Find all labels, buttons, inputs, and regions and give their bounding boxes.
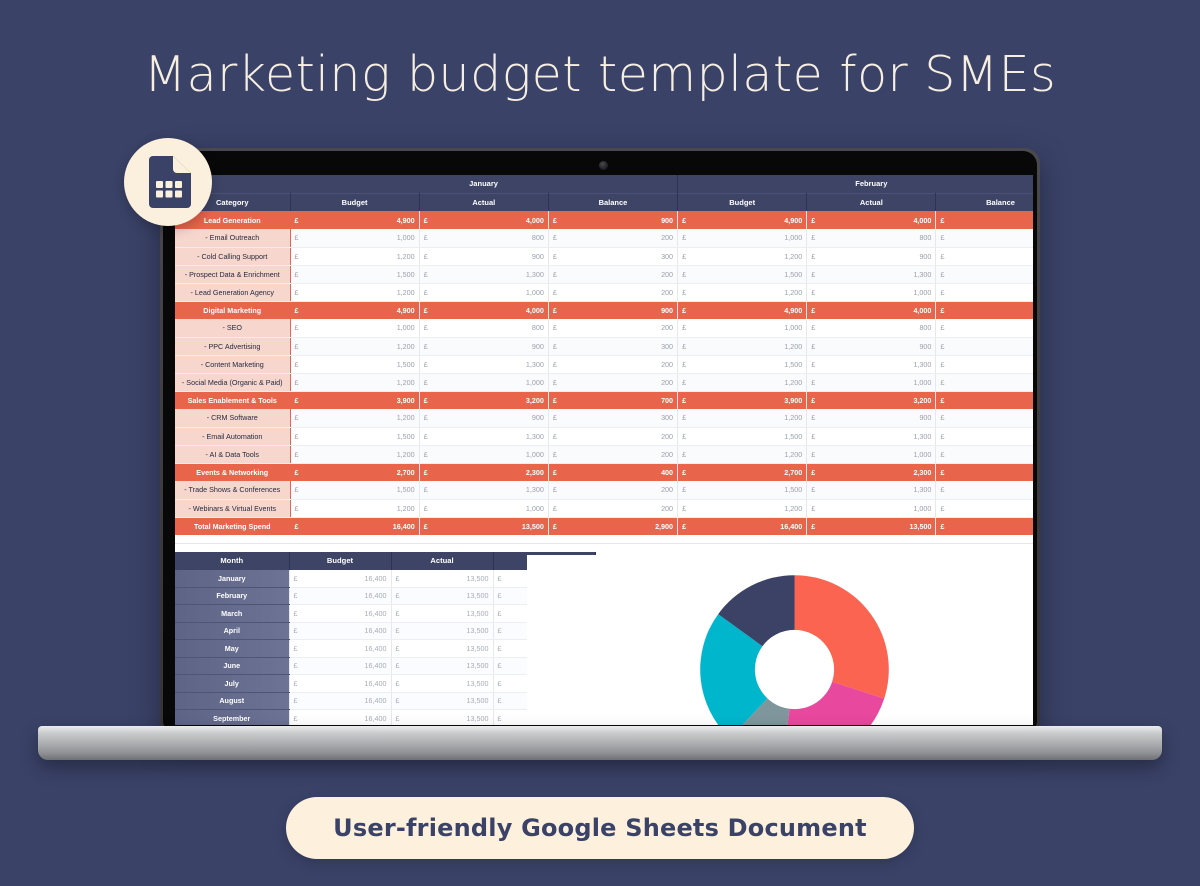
value-cell: 1,200: [355, 337, 420, 355]
currency-cell: £: [678, 211, 743, 229]
currency-cell: £: [678, 301, 743, 319]
table-row[interactable]: Total Marketing Spend£16,400£13,500£2,90…: [175, 517, 1033, 535]
table-row[interactable]: Digital Marketing£4,900£4,000£900£4,900£…: [175, 301, 1033, 319]
currency-cell: £: [678, 445, 743, 463]
value-cell: 1,000: [742, 229, 807, 247]
currency-cell: £: [936, 463, 1001, 481]
currency-cell: £: [936, 355, 1001, 373]
currency-cell: £: [419, 319, 484, 337]
currency-cell: £: [419, 211, 484, 229]
value-cell: 900: [871, 247, 936, 265]
budget-table[interactable]: January February Category Budget Actual …: [175, 175, 1033, 535]
currency-cell: £: [419, 427, 484, 445]
value-cell: 1,200: [742, 247, 807, 265]
currency-cell: £: [290, 517, 355, 535]
value-cell: 4,900: [355, 211, 420, 229]
value-cell: 16,400: [355, 517, 420, 535]
value-cell: 1,500: [355, 427, 420, 445]
row-category-cell: Total Marketing Spend: [175, 517, 290, 535]
value-cell: 1,200: [355, 445, 420, 463]
laptop-bezel: January February Category Budget Actual …: [163, 151, 1037, 731]
currency-cell: £: [290, 301, 355, 319]
currency-cell: £: [289, 587, 340, 605]
currency-cell: £: [548, 319, 613, 337]
currency-cell: £: [419, 391, 484, 409]
currency-cell: £: [419, 355, 484, 373]
value-cell: 4,000: [484, 301, 549, 319]
currency-cell: £: [807, 229, 872, 247]
value-cell: 16,400: [340, 622, 391, 640]
table-row[interactable]: - Lead Generation Agency£1,200£1,000£200…: [175, 283, 1033, 301]
currency-cell: £: [548, 337, 613, 355]
currency-cell: £: [678, 247, 743, 265]
spreadsheet-document-icon: [145, 156, 191, 208]
currency-cell: £: [289, 692, 340, 710]
value-cell: 1,300: [871, 265, 936, 283]
currency-cell: £: [807, 517, 872, 535]
value-cell: 3,900: [355, 391, 420, 409]
row-category-cell: - Webinars & Virtual Events: [175, 499, 290, 517]
poster-canvas: Marketing budget template for SMEs Janua…: [0, 0, 1200, 886]
value-cell: 2,900: [1001, 517, 1033, 535]
currency-cell: £: [936, 265, 1001, 283]
currency-cell: £: [807, 265, 872, 283]
chart-panel: [527, 555, 1033, 725]
currency-cell: £: [807, 463, 872, 481]
month-cell: February: [175, 587, 289, 605]
value-cell: 900: [484, 409, 549, 427]
value-cell: 3,900: [742, 391, 807, 409]
col-header-feb-balance: Balance: [936, 193, 1033, 211]
value-cell: 1,200: [355, 409, 420, 427]
currency-cell: £: [807, 499, 872, 517]
currency-cell: £: [391, 622, 442, 640]
currency-cell: £: [289, 640, 340, 658]
value-cell: 1,500: [742, 355, 807, 373]
value-cell: 1,000: [355, 319, 420, 337]
table-row[interactable]: - AI & Data Tools£1,200£1,000£200£1,200£…: [175, 445, 1033, 463]
value-cell: 1,200: [742, 373, 807, 391]
currency-cell: £: [936, 481, 1001, 499]
currency-cell: £: [419, 499, 484, 517]
currency-cell: £: [548, 247, 613, 265]
table-row[interactable]: Lead Generation£4,900£4,000£900£4,900£4,…: [175, 211, 1033, 229]
value-cell: 13,500: [442, 710, 493, 726]
currency-cell: £: [289, 570, 340, 588]
value-cell: 4,900: [355, 301, 420, 319]
currency-cell: £: [678, 463, 743, 481]
value-cell: 1,200: [742, 499, 807, 517]
value-cell: 1,500: [742, 265, 807, 283]
currency-cell: £: [936, 427, 1001, 445]
table-row[interactable]: Sales Enablement & Tools£3,900£3,200£700…: [175, 391, 1033, 409]
value-cell: 300: [1001, 247, 1033, 265]
currency-cell: £: [419, 463, 484, 481]
value-cell: 1,200: [742, 445, 807, 463]
value-cell: 300: [1001, 409, 1033, 427]
month-cell: August: [175, 692, 289, 710]
spreadsheet-canvas: January February Category Budget Actual …: [175, 175, 1033, 725]
currency-cell: £: [391, 640, 442, 658]
currency-cell: £: [419, 337, 484, 355]
budget-table-body: Lead Generation£4,900£4,000£900£4,900£4,…: [175, 211, 1033, 535]
webcam-icon: [599, 161, 608, 170]
table-row[interactable]: - Webinars & Virtual Events£1,200£1,000£…: [175, 499, 1033, 517]
currency-cell: £: [289, 622, 340, 640]
value-cell: 900: [484, 247, 549, 265]
currency-cell: £: [678, 499, 743, 517]
currency-cell: £: [548, 211, 613, 229]
currency-cell: £: [548, 445, 613, 463]
currency-cell: £: [391, 675, 442, 693]
value-cell: 3,200: [871, 391, 936, 409]
value-cell: 200: [1001, 373, 1033, 391]
laptop-screen: January February Category Budget Actual …: [175, 175, 1033, 725]
value-cell: 13,500: [442, 692, 493, 710]
table-row[interactable]: - Trade Shows & Conferences£1,500£1,300£…: [175, 481, 1033, 499]
currency-cell: £: [391, 692, 442, 710]
currency-cell: £: [419, 265, 484, 283]
col-header-jan-budget: Budget: [290, 193, 419, 211]
value-cell: 16,400: [340, 675, 391, 693]
value-cell: 200: [1001, 283, 1033, 301]
row-category-cell: Digital Marketing: [175, 301, 290, 319]
currency-cell: £: [290, 265, 355, 283]
currency-cell: £: [936, 373, 1001, 391]
value-cell: 13,500: [442, 587, 493, 605]
table-row[interactable]: - Email Outreach£1,000£800£200£1,000£800…: [175, 229, 1033, 247]
value-cell: 200: [1001, 445, 1033, 463]
currency-cell: £: [548, 391, 613, 409]
month-header-february: February: [678, 175, 1033, 193]
currency-cell: £: [290, 337, 355, 355]
value-cell: 700: [1001, 391, 1033, 409]
value-cell: 200: [613, 265, 678, 283]
currency-cell: £: [419, 445, 484, 463]
value-cell: 200: [1001, 265, 1033, 283]
value-cell: 1,200: [742, 283, 807, 301]
value-cell: 1,000: [355, 229, 420, 247]
value-cell: 200: [613, 229, 678, 247]
col-header-jan-actual: Actual: [419, 193, 548, 211]
currency-cell: £: [548, 265, 613, 283]
value-cell: 1,200: [742, 409, 807, 427]
laptop-base: [38, 726, 1162, 760]
currency-cell: £: [548, 481, 613, 499]
value-cell: 2,300: [484, 463, 549, 481]
row-category-cell: Sales Enablement & Tools: [175, 391, 290, 409]
currency-cell: £: [548, 427, 613, 445]
value-cell: 1,300: [871, 427, 936, 445]
value-cell: 200: [613, 373, 678, 391]
currency-cell: £: [289, 657, 340, 675]
currency-cell: £: [290, 211, 355, 229]
value-cell: 4,000: [484, 211, 549, 229]
value-cell: 16,400: [340, 570, 391, 588]
row-category-cell: - CRM Software: [175, 409, 290, 427]
value-cell: 1,500: [742, 481, 807, 499]
value-cell: 16,400: [340, 605, 391, 623]
value-cell: 1,000: [484, 445, 549, 463]
value-cell: 13,500: [442, 570, 493, 588]
value-cell: 200: [613, 355, 678, 373]
currency-cell: £: [391, 570, 442, 588]
currency-cell: £: [290, 499, 355, 517]
currency-cell: £: [419, 229, 484, 247]
month-cell: July: [175, 675, 289, 693]
value-cell: 1,000: [871, 373, 936, 391]
currency-cell: £: [548, 463, 613, 481]
value-cell: 16,400: [340, 640, 391, 658]
spend-donut-chart[interactable]: [692, 567, 897, 725]
table-row[interactable]: - Email Automation£1,500£1,300£200£1,500…: [175, 427, 1033, 445]
value-cell: 3,200: [484, 391, 549, 409]
value-cell: 900: [1001, 301, 1033, 319]
value-cell: 900: [1001, 211, 1033, 229]
value-cell: 1,200: [742, 337, 807, 355]
value-cell: 900: [613, 301, 678, 319]
currency-cell: £: [290, 319, 355, 337]
value-cell: 4,000: [871, 301, 936, 319]
currency-cell: £: [936, 283, 1001, 301]
currency-cell: £: [936, 337, 1001, 355]
currency-cell: £: [290, 481, 355, 499]
col-header-feb-actual: Actual: [807, 193, 936, 211]
table-row[interactable]: - SEO£1,000£800£200£1,000£800£200£1,000: [175, 319, 1033, 337]
value-cell: 13,500: [442, 605, 493, 623]
col-header-jan-balance: Balance: [548, 193, 677, 211]
value-cell: 2,700: [742, 463, 807, 481]
month-cell: September: [175, 710, 289, 726]
value-cell: 1,000: [742, 319, 807, 337]
value-cell: 200: [613, 499, 678, 517]
currency-cell: £: [936, 319, 1001, 337]
currency-cell: £: [807, 427, 872, 445]
value-cell: 1,300: [484, 427, 549, 445]
currency-cell: £: [936, 445, 1001, 463]
month-cell: June: [175, 657, 289, 675]
value-cell: 1,500: [742, 427, 807, 445]
currency-cell: £: [936, 247, 1001, 265]
value-cell: 900: [871, 409, 936, 427]
value-cell: 300: [613, 337, 678, 355]
value-cell: 4,000: [871, 211, 936, 229]
currency-cell: £: [290, 445, 355, 463]
currency-cell: £: [290, 355, 355, 373]
currency-cell: £: [678, 373, 743, 391]
currency-cell: £: [548, 499, 613, 517]
currency-cell: £: [807, 337, 872, 355]
currency-cell: £: [678, 283, 743, 301]
currency-cell: £: [678, 409, 743, 427]
currency-cell: £: [678, 427, 743, 445]
value-cell: 1,300: [484, 481, 549, 499]
currency-cell: £: [391, 710, 442, 726]
value-cell: 2,300: [871, 463, 936, 481]
sheet-divider: [175, 543, 1033, 552]
currency-cell: £: [419, 373, 484, 391]
currency-cell: £: [678, 391, 743, 409]
currency-cell: £: [678, 517, 743, 535]
value-cell: 200: [1001, 229, 1033, 247]
value-cell: 400: [613, 463, 678, 481]
donut-slice[interactable]: [795, 575, 889, 698]
currency-cell: £: [678, 337, 743, 355]
value-cell: 800: [871, 229, 936, 247]
mcol-header-month: Month: [175, 552, 289, 570]
value-cell: 1,000: [871, 445, 936, 463]
currency-cell: £: [391, 605, 442, 623]
currency-cell: £: [807, 445, 872, 463]
value-cell: 800: [871, 319, 936, 337]
currency-cell: £: [807, 283, 872, 301]
row-category-cell: - PPC Advertising: [175, 337, 290, 355]
currency-cell: £: [678, 355, 743, 373]
document-badge: [124, 138, 212, 226]
currency-cell: £: [807, 481, 872, 499]
value-cell: 1,300: [484, 265, 549, 283]
footer-pill[interactable]: User-friendly Google Sheets Document: [286, 797, 914, 859]
value-cell: 1,000: [484, 499, 549, 517]
row-category-cell: - Prospect Data & Enrichment: [175, 265, 290, 283]
currency-cell: £: [391, 657, 442, 675]
value-cell: 1,500: [355, 481, 420, 499]
value-cell: 1,000: [484, 283, 549, 301]
value-cell: 4,900: [742, 301, 807, 319]
currency-cell: £: [807, 391, 872, 409]
row-category-cell: - AI & Data Tools: [175, 445, 290, 463]
value-cell: 13,500: [871, 517, 936, 535]
laptop-lid: January February Category Budget Actual …: [160, 148, 1040, 734]
value-cell: 13,500: [442, 622, 493, 640]
row-category-cell: - Cold Calling Support: [175, 247, 290, 265]
value-cell: 1,000: [871, 499, 936, 517]
value-cell: 1,300: [484, 355, 549, 373]
value-cell: 900: [871, 337, 936, 355]
value-cell: 200: [613, 427, 678, 445]
currency-cell: £: [419, 409, 484, 427]
value-cell: 200: [613, 445, 678, 463]
currency-cell: £: [419, 481, 484, 499]
value-cell: 1,200: [355, 247, 420, 265]
table-row[interactable]: - Social Media (Organic & Paid)£1,200£1,…: [175, 373, 1033, 391]
value-cell: 13,500: [442, 640, 493, 658]
currency-cell: £: [936, 391, 1001, 409]
currency-cell: £: [936, 499, 1001, 517]
currency-cell: £: [807, 373, 872, 391]
currency-cell: £: [290, 229, 355, 247]
mcol-header-budget: Budget: [289, 552, 391, 570]
value-cell: 200: [1001, 355, 1033, 373]
month-cell: January: [175, 570, 289, 588]
value-cell: 200: [1001, 319, 1033, 337]
value-cell: 1,500: [355, 265, 420, 283]
currency-cell: £: [807, 319, 872, 337]
currency-cell: £: [290, 463, 355, 481]
currency-cell: £: [419, 247, 484, 265]
value-cell: 300: [1001, 337, 1033, 355]
column-header-row: Category Budget Actual Balance Budget Ac…: [175, 193, 1033, 211]
value-cell: 900: [613, 211, 678, 229]
value-cell: 1,300: [871, 355, 936, 373]
currency-cell: £: [548, 373, 613, 391]
currency-cell: £: [936, 409, 1001, 427]
page-title: Marketing budget template for SMEs: [0, 46, 1200, 103]
currency-cell: £: [807, 211, 872, 229]
currency-cell: £: [678, 265, 743, 283]
value-cell: 900: [484, 337, 549, 355]
table-row[interactable]: Events & Networking£2,700£2,300£400£2,70…: [175, 463, 1033, 481]
value-cell: 200: [1001, 499, 1033, 517]
value-cell: 200: [1001, 427, 1033, 445]
mcol-header-actual: Actual: [391, 552, 493, 570]
table-row[interactable]: - PPC Advertising£1,200£900£300£1,200£90…: [175, 337, 1033, 355]
value-cell: 16,400: [340, 710, 391, 726]
value-cell: 1,200: [355, 373, 420, 391]
value-cell: 300: [613, 409, 678, 427]
currency-cell: £: [678, 229, 743, 247]
value-cell: 200: [613, 481, 678, 499]
row-category-cell: - Email Outreach: [175, 229, 290, 247]
currency-cell: £: [548, 409, 613, 427]
value-cell: 16,400: [742, 517, 807, 535]
value-cell: 200: [1001, 481, 1033, 499]
currency-cell: £: [548, 355, 613, 373]
value-cell: 1,300: [871, 481, 936, 499]
row-category-cell: - Lead Generation Agency: [175, 283, 290, 301]
month-header-row: January February: [175, 175, 1033, 193]
value-cell: 13,500: [442, 657, 493, 675]
currency-cell: £: [807, 301, 872, 319]
currency-cell: £: [290, 391, 355, 409]
value-cell: 13,500: [442, 675, 493, 693]
currency-cell: £: [936, 301, 1001, 319]
currency-cell: £: [419, 517, 484, 535]
currency-cell: £: [936, 229, 1001, 247]
currency-cell: £: [290, 283, 355, 301]
value-cell: 1,000: [484, 373, 549, 391]
value-cell: 2,700: [355, 463, 420, 481]
currency-cell: £: [807, 247, 872, 265]
budget-table-head: January February Category Budget Actual …: [175, 175, 1033, 211]
value-cell: 200: [613, 319, 678, 337]
table-row[interactable]: - Cold Calling Support£1,200£900£300£1,2…: [175, 247, 1033, 265]
currency-cell: £: [290, 373, 355, 391]
currency-cell: £: [936, 517, 1001, 535]
currency-cell: £: [807, 355, 872, 373]
col-header-feb-budget: Budget: [678, 193, 807, 211]
row-category-cell: Events & Networking: [175, 463, 290, 481]
table-row[interactable]: - CRM Software£1,200£900£300£1,200£900£3…: [175, 409, 1033, 427]
month-header-january: January: [290, 175, 678, 193]
currency-cell: £: [289, 605, 340, 623]
currency-cell: £: [678, 319, 743, 337]
currency-cell: £: [289, 675, 340, 693]
value-cell: 2,900: [613, 517, 678, 535]
laptop-mockup: January February Category Budget Actual …: [160, 148, 1040, 738]
value-cell: 300: [613, 247, 678, 265]
table-row[interactable]: - Prospect Data & Enrichment£1,500£1,300…: [175, 265, 1033, 283]
currency-cell: £: [290, 247, 355, 265]
currency-cell: £: [548, 283, 613, 301]
value-cell: 1,500: [355, 355, 420, 373]
value-cell: 4,900: [742, 211, 807, 229]
value-cell: 700: [613, 391, 678, 409]
currency-cell: £: [678, 481, 743, 499]
row-category-cell: - Email Automation: [175, 427, 290, 445]
currency-cell: £: [807, 409, 872, 427]
table-row[interactable]: - Content Marketing£1,500£1,300£200£1,50…: [175, 355, 1033, 373]
